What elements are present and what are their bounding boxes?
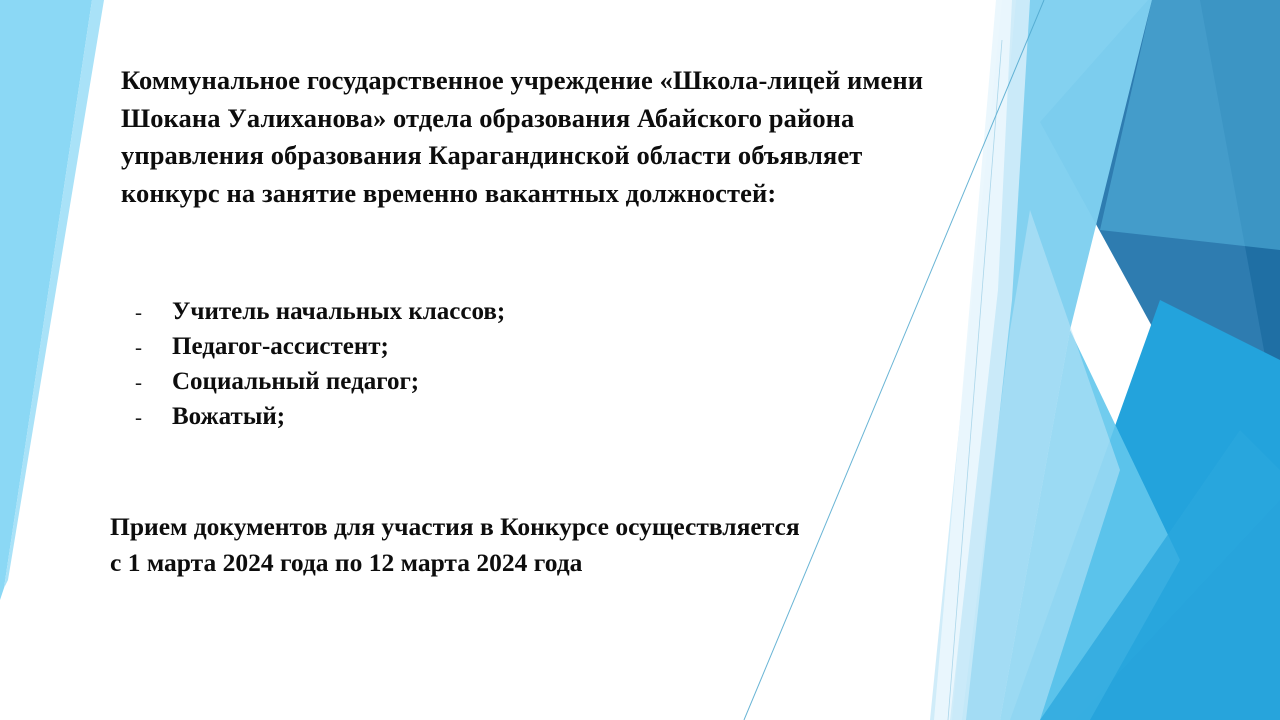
list-marker: -: [121, 330, 172, 365]
slide-canvas: Коммунальное государственное учреждение …: [0, 0, 1280, 720]
list-marker: -: [121, 400, 172, 435]
list-item: - Социальный педагог;: [121, 364, 741, 399]
list-item: - Вожатый;: [121, 399, 741, 434]
announcement-heading: Коммунальное государственное учреждение …: [121, 62, 951, 212]
submission-period-line-1: Прием документов для участия в Конкурсе …: [110, 509, 1010, 545]
list-item: - Учитель начальных классов;: [121, 294, 741, 329]
slide-content: Коммунальное государственное учреждение …: [0, 0, 1280, 720]
vacancy-label: Педагог-ассистент;: [172, 329, 389, 364]
list-marker: -: [121, 365, 172, 400]
vacancy-label: Социальный педагог;: [172, 364, 419, 399]
vacancy-list: - Учитель начальных классов; - Педагог-а…: [121, 294, 741, 434]
submission-period-note: Прием документов для участия в Конкурсе …: [110, 509, 1010, 581]
list-marker: -: [121, 295, 172, 330]
list-item: - Педагог-ассистент;: [121, 329, 741, 364]
submission-period-line-2: с 1 марта 2024 года по 12 марта 2024 год…: [110, 545, 1010, 581]
vacancy-label: Учитель начальных классов;: [172, 294, 505, 329]
vacancy-label: Вожатый;: [172, 399, 285, 434]
